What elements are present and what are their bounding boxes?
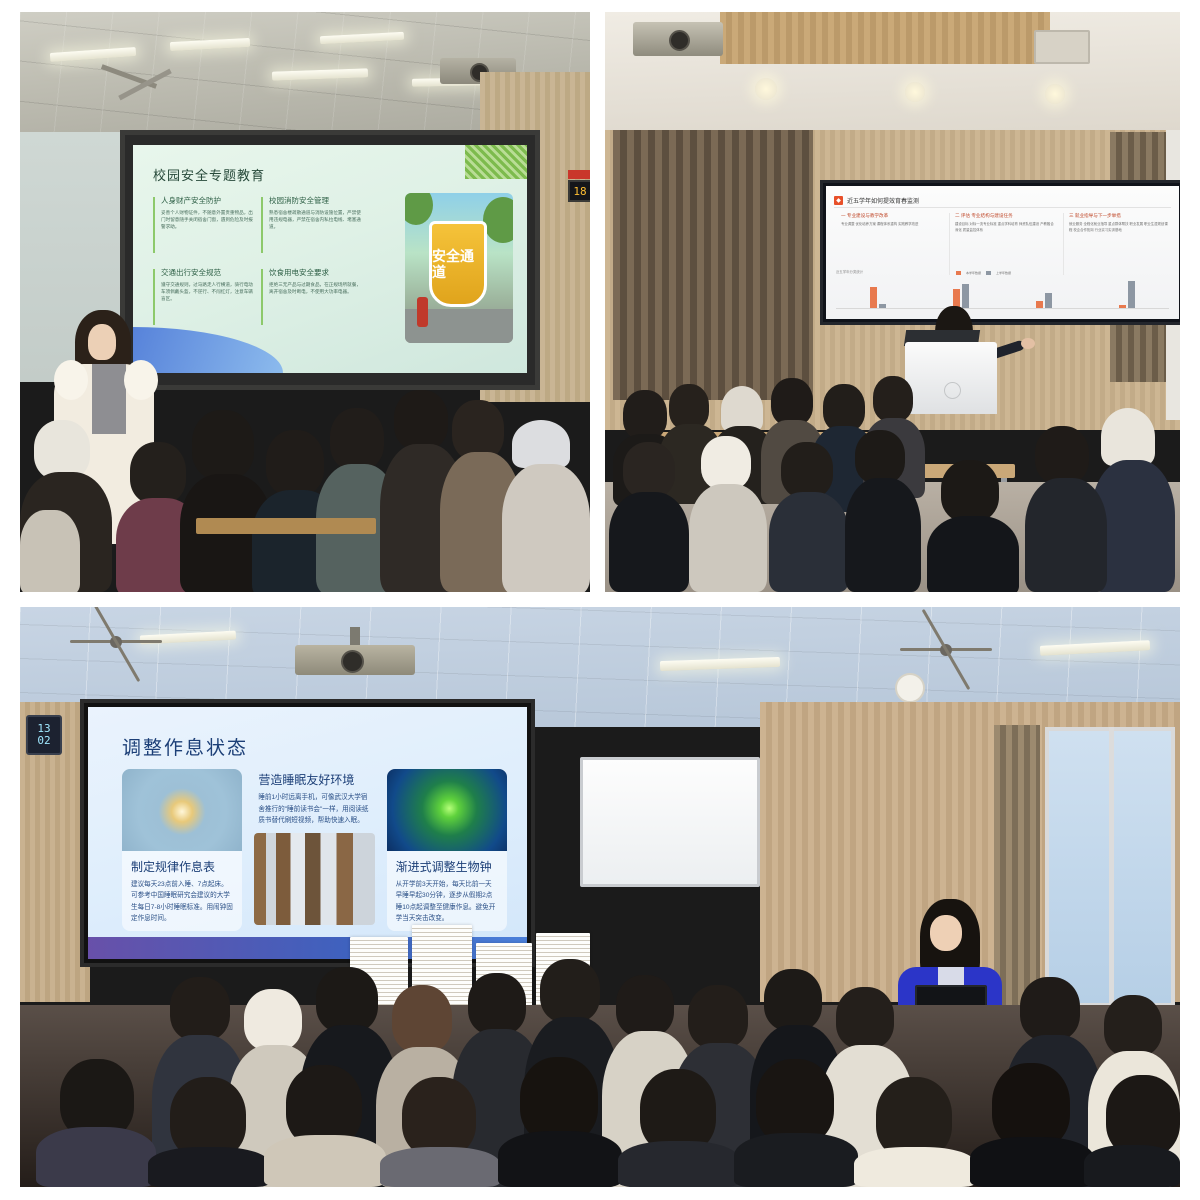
slide-title: 校园安全专题教育	[153, 165, 265, 184]
chart-bar	[1045, 293, 1052, 308]
inner-top	[92, 364, 126, 434]
projector-lens	[341, 650, 364, 673]
slide-corner-decoration	[465, 145, 527, 179]
slide-content: 校园安全专题教育 人身财产安全防护 妥善个人财物证件，不随意外置贵重物品，出门时…	[133, 145, 527, 373]
projection-screen: 校园安全专题教育 人身财产安全防护 妥善个人财物证件，不随意外置贵重物品，出门时…	[120, 130, 540, 390]
digital-display: 18	[568, 180, 590, 202]
downlight	[905, 82, 925, 102]
cap	[512, 420, 570, 468]
slide-content: 调整作息状态 制定规律作息表 建议每天23点前入睡、7点起床。可参考中国睡眠研究…	[88, 707, 527, 959]
photo-bottom-wide: 13 02 调整作息状态 制定规律作息表 建议每天23点前入睡、7点起床。可参考…	[20, 607, 1180, 1187]
projector	[633, 22, 723, 56]
slide-title: 调整作息状态	[122, 733, 248, 760]
photo-top-left: 18 校园安全专题教育 人身财产安全防护 妥善个人财物证件，不随意外置贵重物品，…	[20, 12, 590, 592]
chart-bars	[836, 276, 1169, 309]
chart-bar-group	[953, 284, 969, 308]
photo-collage: 18 校园安全专题教育 人身财产安全防护 妥善个人财物证件，不随意外置贵重物品，…	[0, 0, 1200, 1200]
ceiling-vent	[1034, 30, 1090, 64]
downlight	[755, 78, 777, 100]
slide-card: 渐进式调整生物钟 从开学前3天开始，每天比前一天早睡早起30分钟，逐步从假期2点…	[387, 769, 507, 931]
alarm-clock-gold-image	[122, 769, 242, 851]
slide-column: 一 专业建设与教学改革 专业调整 优化培养方案 课程体系重构 实践教学改进	[836, 213, 941, 275]
slide-illustration: 安全通道	[405, 193, 513, 343]
slide-title: 近五学年如何提效育春监测	[847, 196, 919, 205]
slide-content: ◆ 近五学年如何提效育春监测 一 专业建设与教学改革 专业调整 优化培养方案 课…	[826, 186, 1179, 319]
slide-cards: 制定规律作息表 建议每天23点前入睡、7点起床。可参考中国睡眠研究会建议的大学生…	[122, 769, 507, 931]
column-heading: 二 评估 专业结构与建设任务	[955, 213, 1055, 219]
chart-label: 近五学年分类统计	[836, 269, 863, 274]
chart-bar-group	[1119, 281, 1135, 308]
cell-body: 妥善个人财物证件，不随意外置贵重物品，出门时留意随手关闭宿舍门窗，遇到危险及时报…	[161, 209, 255, 230]
fan-hub	[940, 644, 952, 656]
downlight	[1045, 84, 1065, 104]
cell-heading: 校园消防安全管理	[269, 195, 363, 206]
cell-body: 遵守交通规则，过马路走人行横道，骑行电动车须佩戴头盔，不逆行、不闯红灯，注意车辆…	[161, 281, 255, 302]
cell-heading: 人身财产安全防护	[161, 195, 255, 206]
projector	[295, 645, 415, 675]
slide-title-bar: ◆ 近五学年如何提效育春监测	[834, 194, 1171, 208]
tree-icon	[405, 193, 433, 225]
wall-clock: 13 02	[26, 715, 62, 755]
fur-collar	[54, 360, 88, 400]
slide-cell: 交通出行安全规范 遵守交通规则，过马路走人行横道，骑行电动车须佩戴头盔，不逆行、…	[153, 267, 255, 329]
legend-swatch-series-1	[956, 271, 961, 275]
slide-columns: 一 专业建设与教学改革 专业调整 优化培养方案 课程体系重构 实践教学改进 二 …	[836, 213, 1169, 275]
chart-bar-group	[1036, 293, 1052, 308]
column-body: 就业服务 全程化就业指导 重点群体帮扶 职业发展 职业生涯规划课程 校企合作拓岗…	[1069, 222, 1169, 234]
photo-top-right: ◆ 近五学年如何提效育春监测 一 专业建设与教学改革 专业调整 优化培养方案 课…	[605, 12, 1180, 592]
legend-label-series-1: 本学年数据	[966, 271, 981, 275]
display-bezel	[568, 170, 590, 179]
slide-cell: 饮食用电安全要求 拒绝三无产品与过期食品，在正规场所就餐，离开宿舍及时断电，不使…	[261, 267, 363, 329]
slide-cell: 人身财产安全防护 妥善个人财物证件，不随意外置贵重物品，出门时留意随手关闭宿舍门…	[153, 195, 255, 257]
chart-bar	[879, 304, 886, 308]
chart-bar-group	[870, 287, 886, 308]
fire-extinguisher-icon	[417, 297, 428, 327]
chart-bar	[1036, 301, 1043, 308]
alarm-clock-green-image	[387, 769, 507, 851]
fur-collar	[124, 360, 158, 400]
ceiling-wood-panel	[720, 12, 1050, 64]
slide-card: 制定规律作息表 建议每天23点前入睡、7点起床。可参考中国睡眠研究会建议的大学生…	[122, 769, 242, 931]
chart-bar	[1128, 281, 1135, 308]
desk	[196, 518, 376, 534]
slide-cell: 校园消防安全管理 熟悉宿舍楼疏散通道与消防设施位置，严禁使用违规电器，严禁在宿舍…	[261, 195, 363, 257]
card-heading: 营造睡眠友好环境	[258, 771, 374, 788]
podium	[905, 342, 997, 414]
slide-cells: 人身财产安全防护 妥善个人财物证件，不随意外置贵重物品，出门时留意随手关闭宿舍门…	[153, 195, 363, 339]
wall-speaker	[895, 673, 925, 703]
cell-heading: 饮食用电安全要求	[269, 267, 363, 278]
card-body: 从开学前3天开始，每天比前一天早睡早起30分钟，逐步从假期2点睡10点起调整至健…	[396, 879, 498, 925]
library-bookshelf-image	[254, 833, 374, 925]
column-heading: 三 就业指导与下一步举措	[1069, 213, 1169, 219]
slide-bar-chart: 近五学年分类统计 本学年数据 上学年数据	[836, 269, 1169, 311]
tree-icon	[483, 197, 513, 243]
chart-legend: 本学年数据 上学年数据	[956, 271, 1011, 275]
column-body: 建设目标 对标一流专业标准 重点学科培育 师资队伍建设 产教融合深化 质量监控体…	[955, 222, 1055, 234]
cell-body: 熟悉宿舍楼疏散通道与消防设施位置，严禁使用违规电器，严禁在宿舍内私拉电线、堵塞通…	[269, 209, 363, 230]
window-curtain	[613, 130, 813, 400]
card-body: 睡前1小时远离手机，可像武汉大学宿舍推行的"睡前读书会"一样，用阅读纸质书替代刷…	[258, 792, 370, 827]
fan-hub	[110, 636, 122, 648]
chart-bar	[962, 284, 969, 308]
cell-heading: 交通出行安全规范	[161, 267, 255, 278]
projector-lens	[669, 30, 690, 51]
slide-column: 二 评估 专业结构与建设任务 建设目标 对标一流专业标准 重点学科培育 师资队伍…	[949, 213, 1055, 275]
projection-screen: ◆ 近五学年如何提效育春监测 一 专业建设与教学改革 专业调整 优化培养方案 课…	[820, 180, 1180, 325]
legend-swatch-series-2	[986, 271, 991, 275]
ceiling-fan	[70, 637, 162, 645]
card-heading: 渐进式调整生物钟	[396, 858, 507, 875]
window-curtain	[994, 725, 1040, 1015]
brand-logo-icon: ◆	[834, 196, 843, 205]
cap	[1101, 408, 1155, 466]
column-body: 专业调整 优化培养方案 课程体系重构 实践教学改进	[841, 222, 941, 228]
card-body: 建议每天23点前入睡、7点起床。可参考中国睡眠研究会建议的大学生每日7-8小时睡…	[131, 879, 233, 925]
chart-bar	[1119, 305, 1126, 308]
clock-minutes: 02	[37, 735, 50, 747]
whiteboard	[580, 757, 760, 887]
window-mullion	[1109, 727, 1114, 1007]
ceiling-fan	[900, 645, 992, 653]
chart-bar	[870, 287, 877, 308]
slide-column: 三 就业指导与下一步举措 就业服务 全程化就业指导 重点群体帮扶 职业发展 职业…	[1063, 213, 1169, 275]
column-heading: 一 专业建设与教学改革	[841, 213, 941, 219]
cell-body: 拒绝三无产品与过期食品，在正规场所就餐，离开宿舍及时断电，不使用大功率电器。	[269, 281, 363, 295]
safety-passage-sign: 安全通道	[429, 221, 487, 307]
hand	[1021, 338, 1035, 349]
card-heading: 制定规律作息表	[131, 858, 242, 875]
face-front	[930, 915, 962, 951]
slide-card: 营造睡眠友好环境 睡前1小时远离手机，可像武汉大学宿舍推行的"睡前读书会"一样，…	[254, 769, 374, 931]
legend-label-series-2: 上学年数据	[996, 271, 1011, 275]
